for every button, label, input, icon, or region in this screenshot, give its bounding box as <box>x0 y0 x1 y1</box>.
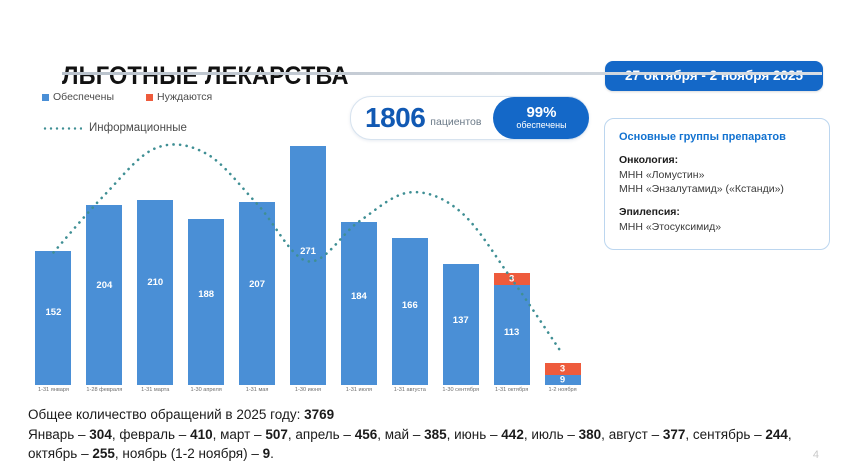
bar-value-provided: 210 <box>137 277 173 288</box>
footer-month-value: 442 <box>501 427 524 442</box>
bar-column: 137 <box>443 264 479 385</box>
x-axis-label: 1-31 мая <box>229 387 285 393</box>
drug-groups-card: Основные группы препаратов Онкология: МН… <box>604 118 830 250</box>
x-axis-label: 1-2 ноября <box>535 387 591 393</box>
footer-month-name: май – <box>385 427 424 442</box>
header-divider <box>62 72 822 75</box>
bar-value-provided: 152 <box>35 307 71 318</box>
drug-group-oncology-line-1: МНН «Ломустин» <box>619 168 815 182</box>
footer-month-name: сентябрь – <box>693 427 766 442</box>
footer-month-name: август – <box>609 427 663 442</box>
bar-value-provided: 271 <box>290 246 326 257</box>
bar-segment-provided: 210 <box>137 200 173 386</box>
bar-column: 166 <box>392 238 428 385</box>
date-range-badge: 27 октября - 2 ноября 2025 <box>605 61 823 91</box>
drug-group-epilepsy-name: Эпилепсия: <box>619 206 815 218</box>
footer-month-value: 456 <box>355 427 378 442</box>
x-axis-label: 1-30 июня <box>280 387 336 393</box>
bar-column: 184 <box>341 222 377 385</box>
bar-column: 210 <box>137 200 173 386</box>
bar-value-provided: 137 <box>443 315 479 326</box>
bar-segment-provided: 113 <box>494 285 530 385</box>
footer-month-name: ноябрь (1-2 ноября) – <box>122 446 262 461</box>
bar-value-provided: 207 <box>239 279 275 290</box>
chart-legend: Обеспечены Нуждаются Информационные <box>42 91 238 103</box>
bar-chart: 152204210188207271184166137311339 <box>28 120 588 385</box>
legend-item-needed: Нуждаются <box>146 91 212 103</box>
bar-segment-provided: 204 <box>86 205 122 385</box>
footer-total-line: Общее количество обращений в 2025 году: … <box>28 405 818 425</box>
page-number: 4 <box>813 449 819 461</box>
x-axis-label: 1-31 января <box>25 387 81 393</box>
legend-swatch-blue-icon <box>42 94 49 101</box>
footer-total-prefix: Общее количество обращений в 2025 году: <box>28 407 304 422</box>
drug-group-oncology-name: Онкология: <box>619 154 815 166</box>
legend-swatch-red-icon <box>146 94 153 101</box>
drug-groups-title: Основные группы препаратов <box>619 131 815 143</box>
bar-chart-bars: 152204210188207271184166137311339 <box>28 120 588 385</box>
bar-column: 204 <box>86 205 122 385</box>
drug-group-oncology-line-2: МНН «Энзалутамид» («Кстанди») <box>619 182 815 196</box>
bar-column: 188 <box>188 219 224 385</box>
bar-value-provided: 188 <box>188 289 224 300</box>
footer-summary: Общее количество обращений в 2025 году: … <box>28 405 818 464</box>
x-axis-label: 1-30 апреля <box>178 387 234 393</box>
footer-month-value: 507 <box>265 427 288 442</box>
legend-label-provided: Обеспечены <box>53 91 114 103</box>
legend-label-needed: Нуждаются <box>157 91 212 103</box>
bar-chart-x-axis: 1-31 января1-28 февраля1-31 марта1-30 ап… <box>28 387 588 401</box>
footer-month-name: Январь – <box>28 427 89 442</box>
footer-month-value: 244 <box>765 427 788 442</box>
footer-month-value: 304 <box>89 427 112 442</box>
bar-segment-provided: 207 <box>239 202 275 385</box>
bar-segment-needed: 3 <box>545 363 581 375</box>
footer-separator: , <box>377 427 385 442</box>
bar-segment-provided: 166 <box>392 238 428 385</box>
page-title: ЛЬГОТНЫЕ ЛЕКАРСТВА <box>62 62 349 91</box>
legend-item-provided: Обеспечены <box>42 91 114 103</box>
footer-months-line: Январь – 304, февраль – 410, март – 507,… <box>28 425 818 464</box>
footer-total-value: 3769 <box>304 407 334 422</box>
footer-month-value: 385 <box>424 427 447 442</box>
footer-month-value: 380 <box>579 427 602 442</box>
footer-month-name: июль – <box>531 427 578 442</box>
bar-segment-provided: 9 <box>545 375 581 385</box>
footer-month-value: 410 <box>190 427 213 442</box>
x-axis-label: 1-31 марта <box>127 387 183 393</box>
x-axis-label: 1-30 сентября <box>433 387 489 393</box>
footer-month-name: февраль – <box>119 427 190 442</box>
slide-header: ЛЬГОТНЫЕ ЛЕКАРСТВА 27 октября - 2 ноября… <box>0 28 843 78</box>
bar-segment-provided: 137 <box>443 264 479 385</box>
bar-segment-needed: 3 <box>494 273 530 285</box>
x-axis-label: 1-31 июля <box>331 387 387 393</box>
x-axis-label: 1-31 августа <box>382 387 438 393</box>
drug-group-epilepsy: Эпилепсия: МНН «Этосуксимид» <box>619 206 815 234</box>
drug-group-epilepsy-line-1: МНН «Этосуксимид» <box>619 220 815 234</box>
footer-month-name: июнь – <box>454 427 501 442</box>
x-axis-label: 1-31 октября <box>484 387 540 393</box>
bar-value-provided: 166 <box>392 300 428 311</box>
footer-separator: , <box>213 427 221 442</box>
bar-segment-provided: 184 <box>341 222 377 385</box>
bar-value-provided: 184 <box>341 291 377 302</box>
slide-root: ЛЬГОТНЫЕ ЛЕКАРСТВА 27 октября - 2 ноября… <box>0 0 843 471</box>
footer-month-name: март – <box>220 427 265 442</box>
footer-month-name: апрель – <box>295 427 354 442</box>
bar-value-needed: 3 <box>494 274 530 285</box>
drug-group-oncology: Онкология: МНН «Ломустин» МНН «Энзалутам… <box>619 154 815 196</box>
x-axis-label: 1-28 февраля <box>76 387 132 393</box>
bar-segment-provided: 152 <box>35 251 71 385</box>
footer-separator: , <box>601 427 609 442</box>
bar-value-provided: 113 <box>494 327 530 338</box>
footer-month-value: 255 <box>92 446 115 461</box>
bar-segment-provided: 188 <box>188 219 224 385</box>
footer-month-value: 377 <box>663 427 686 442</box>
footer-month-value: 9 <box>263 446 271 461</box>
bar-segment-provided: 271 <box>290 146 326 385</box>
bar-column: 271 <box>290 146 326 385</box>
bar-column: 207 <box>239 202 275 385</box>
coverage-percent-value: 99% <box>526 105 556 121</box>
footer-separator: , <box>685 427 693 442</box>
bar-column: 3113 <box>494 273 530 385</box>
bar-value-provided: 204 <box>86 280 122 291</box>
footer-month-name: октябрь – <box>28 446 92 461</box>
bar-column: 39 <box>545 363 581 385</box>
bar-value-provided: 9 <box>545 375 581 386</box>
footer-separator: , <box>788 427 792 442</box>
bar-column: 152 <box>35 251 71 385</box>
bar-value-needed: 3 <box>545 364 581 375</box>
footer-separator: . <box>270 446 274 461</box>
footer-separator: , <box>447 427 455 442</box>
